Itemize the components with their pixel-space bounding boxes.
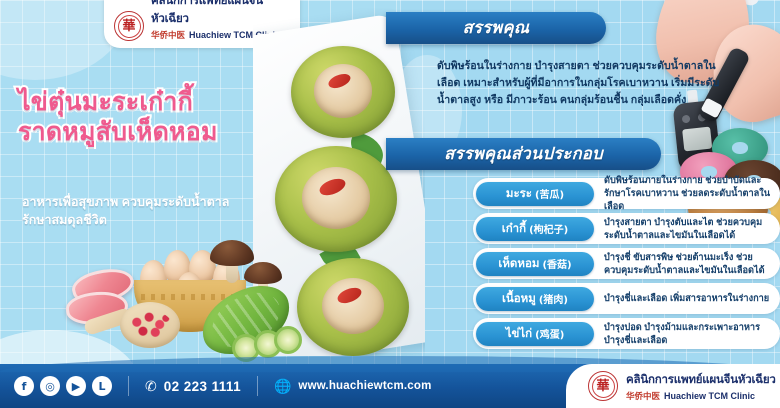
hero-subtitle: อาหารเพื่อสุขภาพ ควบคุมระดับน้ำตาล รักษา…: [22, 193, 282, 229]
ingredient-name-chinese: (苦瓜): [535, 186, 564, 201]
ingredient-name-chinese: (鸡蛋): [535, 326, 564, 341]
facebook-glyph: f: [22, 380, 27, 393]
table-row: เห็ดหอม (香菇) บำรุงชี่ ขับสารพิษ ช่วยต้าน…: [418, 248, 780, 279]
goji-spoon-icon: [84, 302, 180, 348]
table-row: ไข่ไก่ (鸡蛋) บำรุงปอด บำรุงม้ามและกระเพาะ…: [418, 318, 780, 349]
ingredients-illustration: [58, 238, 294, 370]
ingredient-name-thai: มะระ: [506, 185, 532, 203]
emblem-character: 華: [596, 380, 609, 393]
benefits-header-pill: สรรพคุณ: [386, 12, 606, 44]
footer-divider: [257, 376, 258, 396]
ingredient-name-thai: เห็ดหอม: [498, 255, 539, 273]
ingredient-name-chinese: (枸杞子): [529, 221, 568, 236]
ingredient-benefits-header-pill: สรรพคุณส่วนประกอบ: [386, 138, 661, 170]
instagram-glyph: ◎: [45, 380, 55, 393]
footer-divider: [128, 376, 129, 396]
footer-brand-logo: 華 คลินิกการแพทย์แผนจีนหัวเฉียว 华侨中医 Huac…: [566, 364, 780, 408]
brand-subtitle: 华侨中医 Huachiew TCM Clinic: [626, 390, 776, 402]
phone-icon: ✆: [145, 378, 157, 395]
minced-pork-filling: [322, 278, 385, 335]
stuffed-bitter-melon-ring: [275, 146, 397, 252]
stuffed-bitter-melon-ring: [297, 258, 409, 356]
footer-bar: f ◎ ▶ L ✆ 02 223 1111 🌐 www.huachiewtcm.…: [0, 364, 780, 408]
youtube-glyph: ▶: [72, 380, 80, 393]
footer-brand-text: คลินิกการแพทย์แผนจีนหัวเฉียว 华侨中医 Huachi…: [626, 371, 776, 402]
hero-title-line-1: ไข่ตุ๋นมะระเก๋ากี้: [18, 88, 288, 118]
footer-website[interactable]: 🌐 www.huachiewtcm.com: [274, 378, 432, 395]
footer-phone[interactable]: ✆ 02 223 1111: [145, 378, 241, 395]
ingredient-description: บำรุงชี่และเลือด เพิ่มสารอาหารในร่างกาย: [604, 292, 780, 305]
ingredient-description: บำรุงสายตา บำรุงตับและไต ช่วยควบคุมระดับ…: [604, 216, 780, 241]
ingredient-description: บำรุงชี่ ขับสารพิษ ช่วยต้านมะเร็ง ช่วยคว…: [604, 251, 780, 276]
ingredient-name-thai: เก๋ากี้: [502, 220, 526, 238]
phone-number: 02 223 1111: [164, 379, 241, 394]
clinic-emblem-icon: 華: [588, 371, 618, 401]
hero-subtitle-line-2: รักษาสมดุลชีวิต: [22, 211, 282, 229]
ingredient-name-chinese: (香菇): [542, 256, 571, 271]
mushroom-cap: [244, 262, 282, 284]
stuffed-bitter-melon-ring: [291, 46, 395, 138]
ingredient-name-chinese: (猪肉): [539, 291, 568, 306]
goji-berries: [128, 311, 172, 339]
ingredient-name-badge: เก๋ากี้ (枸杞子): [476, 217, 594, 241]
youtube-icon[interactable]: ▶: [66, 376, 86, 396]
ingredient-benefits-header-label: สรรพคุณส่วนประกอบ: [444, 141, 603, 167]
social-links: f ◎ ▶ L: [14, 376, 112, 396]
minced-pork-filling: [302, 167, 370, 228]
table-row: เนื้อหมู (猪肉) บำรุงชี่และเลือด เพิ่มสารอ…: [418, 283, 780, 314]
hero-title-line-2: ราดหมูสับเห็ดหอม: [18, 118, 288, 148]
line-icon[interactable]: L: [92, 376, 112, 396]
brand-name-english: Huachiew TCM Clinic: [664, 391, 755, 401]
ingredient-name-thai: ไข่ไก่: [506, 325, 532, 343]
meter-button: [682, 115, 691, 124]
website-url: www.huachiewtcm.com: [298, 380, 431, 392]
ingredient-name-badge: ไข่ไก่ (鸡蛋): [476, 322, 594, 346]
bitter-melon-slice-icon: [274, 326, 302, 354]
benefits-header-label: สรรพคุณ: [463, 15, 530, 41]
globe-icon: 🌐: [274, 378, 291, 395]
ingredient-name-badge: เนื้อหมู (猪肉): [476, 287, 594, 311]
table-row: เก๋ากี้ (枸杞子) บำรุงสายตา บำรุงตับและไต ช…: [418, 213, 780, 244]
ingredient-name-badge: เห็ดหอม (香菇): [476, 252, 594, 276]
minced-pork-filling: [314, 64, 372, 117]
ingredient-description: ดับพิษร้อนภายในร่างกาย ช่วยบำบัดและรักษา…: [604, 174, 780, 212]
table-row: มะระ (苦瓜) ดับพิษร้อนภายในร่างกาย ช่วยบำบ…: [418, 178, 780, 209]
benefits-body-text: ดับพิษร้อนในร่างกาย บำรุงสายตา ช่วยควบคุ…: [437, 58, 727, 109]
ingredient-description: บำรุงปอด บำรุงม้ามและกระเพาะอาหาร บำรุงช…: [604, 321, 780, 346]
line-glyph: L: [98, 380, 105, 393]
facebook-icon[interactable]: f: [14, 376, 34, 396]
hero-title: ไข่ตุ๋นมะระเก๋ากี้ ราดหมูสับเห็ดหอม: [18, 88, 288, 147]
ingredient-rows: มะระ (苦瓜) ดับพิษร้อนภายในร่างกาย ช่วยบำบ…: [418, 178, 780, 353]
ingredient-name-thai: เนื้อหมู: [502, 290, 536, 308]
poster-root: 華 คลินิกการแพทย์แผนจีนหัวเฉียว 华侨中医 Huac…: [0, 0, 780, 408]
ingredient-name-badge: มะระ (苦瓜): [476, 182, 594, 206]
emblem-character: 華: [122, 20, 135, 33]
brand-name-chinese: 华侨中医: [151, 29, 185, 41]
brand-name-chinese: 华侨中医: [626, 390, 660, 402]
hero-subtitle-line-1: อาหารเพื่อสุขภาพ ควบคุมระดับน้ำตาล: [22, 193, 282, 211]
instagram-icon[interactable]: ◎: [40, 376, 60, 396]
brand-name-thai: คลินิกการแพทย์แผนจีนหัวเฉียว: [626, 371, 776, 389]
clinic-emblem-icon: 華: [114, 11, 144, 41]
